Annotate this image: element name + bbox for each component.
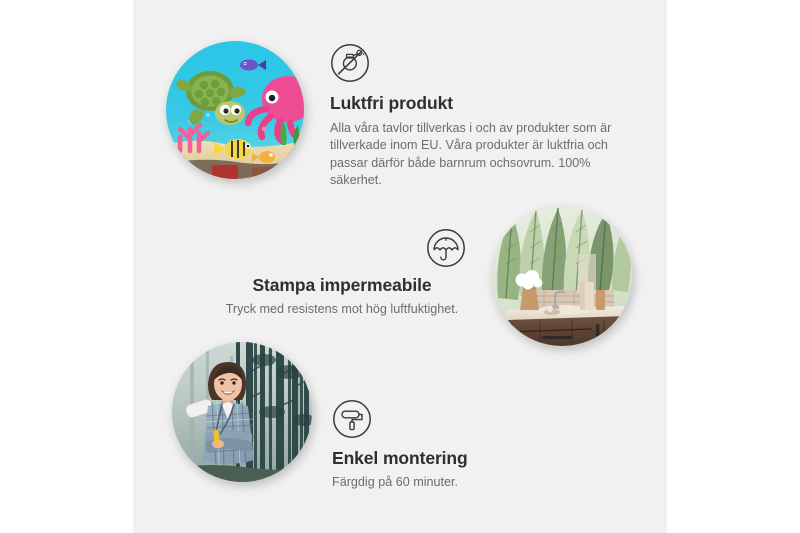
no-fragrance-bottle-icon <box>330 43 370 83</box>
feature-waterproof: Stampa impermeabile Tryck med resistens … <box>218 228 466 318</box>
paint-roller-icon <box>332 399 372 439</box>
feature-title: Enkel montering <box>332 448 592 469</box>
woman-with-paint-roller-forest-photo <box>172 342 312 482</box>
feature-mounting: Enkel montering Färgdig på 60 minuter. <box>332 399 592 491</box>
bathroom-tropical-wallpaper-photo <box>492 206 632 346</box>
feature-body: Tryck med resistens mot hög luftfuktighe… <box>218 301 466 318</box>
underwater-cartoon-scene-photo <box>166 41 304 179</box>
promo-infographic: Luktfri produkt Alla våra tavlor tillver… <box>0 0 800 533</box>
umbrella-icon <box>426 228 466 268</box>
feature-title: Luktfri produkt <box>330 93 630 114</box>
feature-odourless: Luktfri produkt Alla våra tavlor tillver… <box>330 43 630 190</box>
feature-body: Alla våra tavlor tillverkas i och av pro… <box>330 120 622 190</box>
feature-title: Stampa impermeabile <box>218 275 466 296</box>
feature-body: Färgdig på 60 minuter. <box>332 474 592 491</box>
icon-row <box>218 228 466 268</box>
